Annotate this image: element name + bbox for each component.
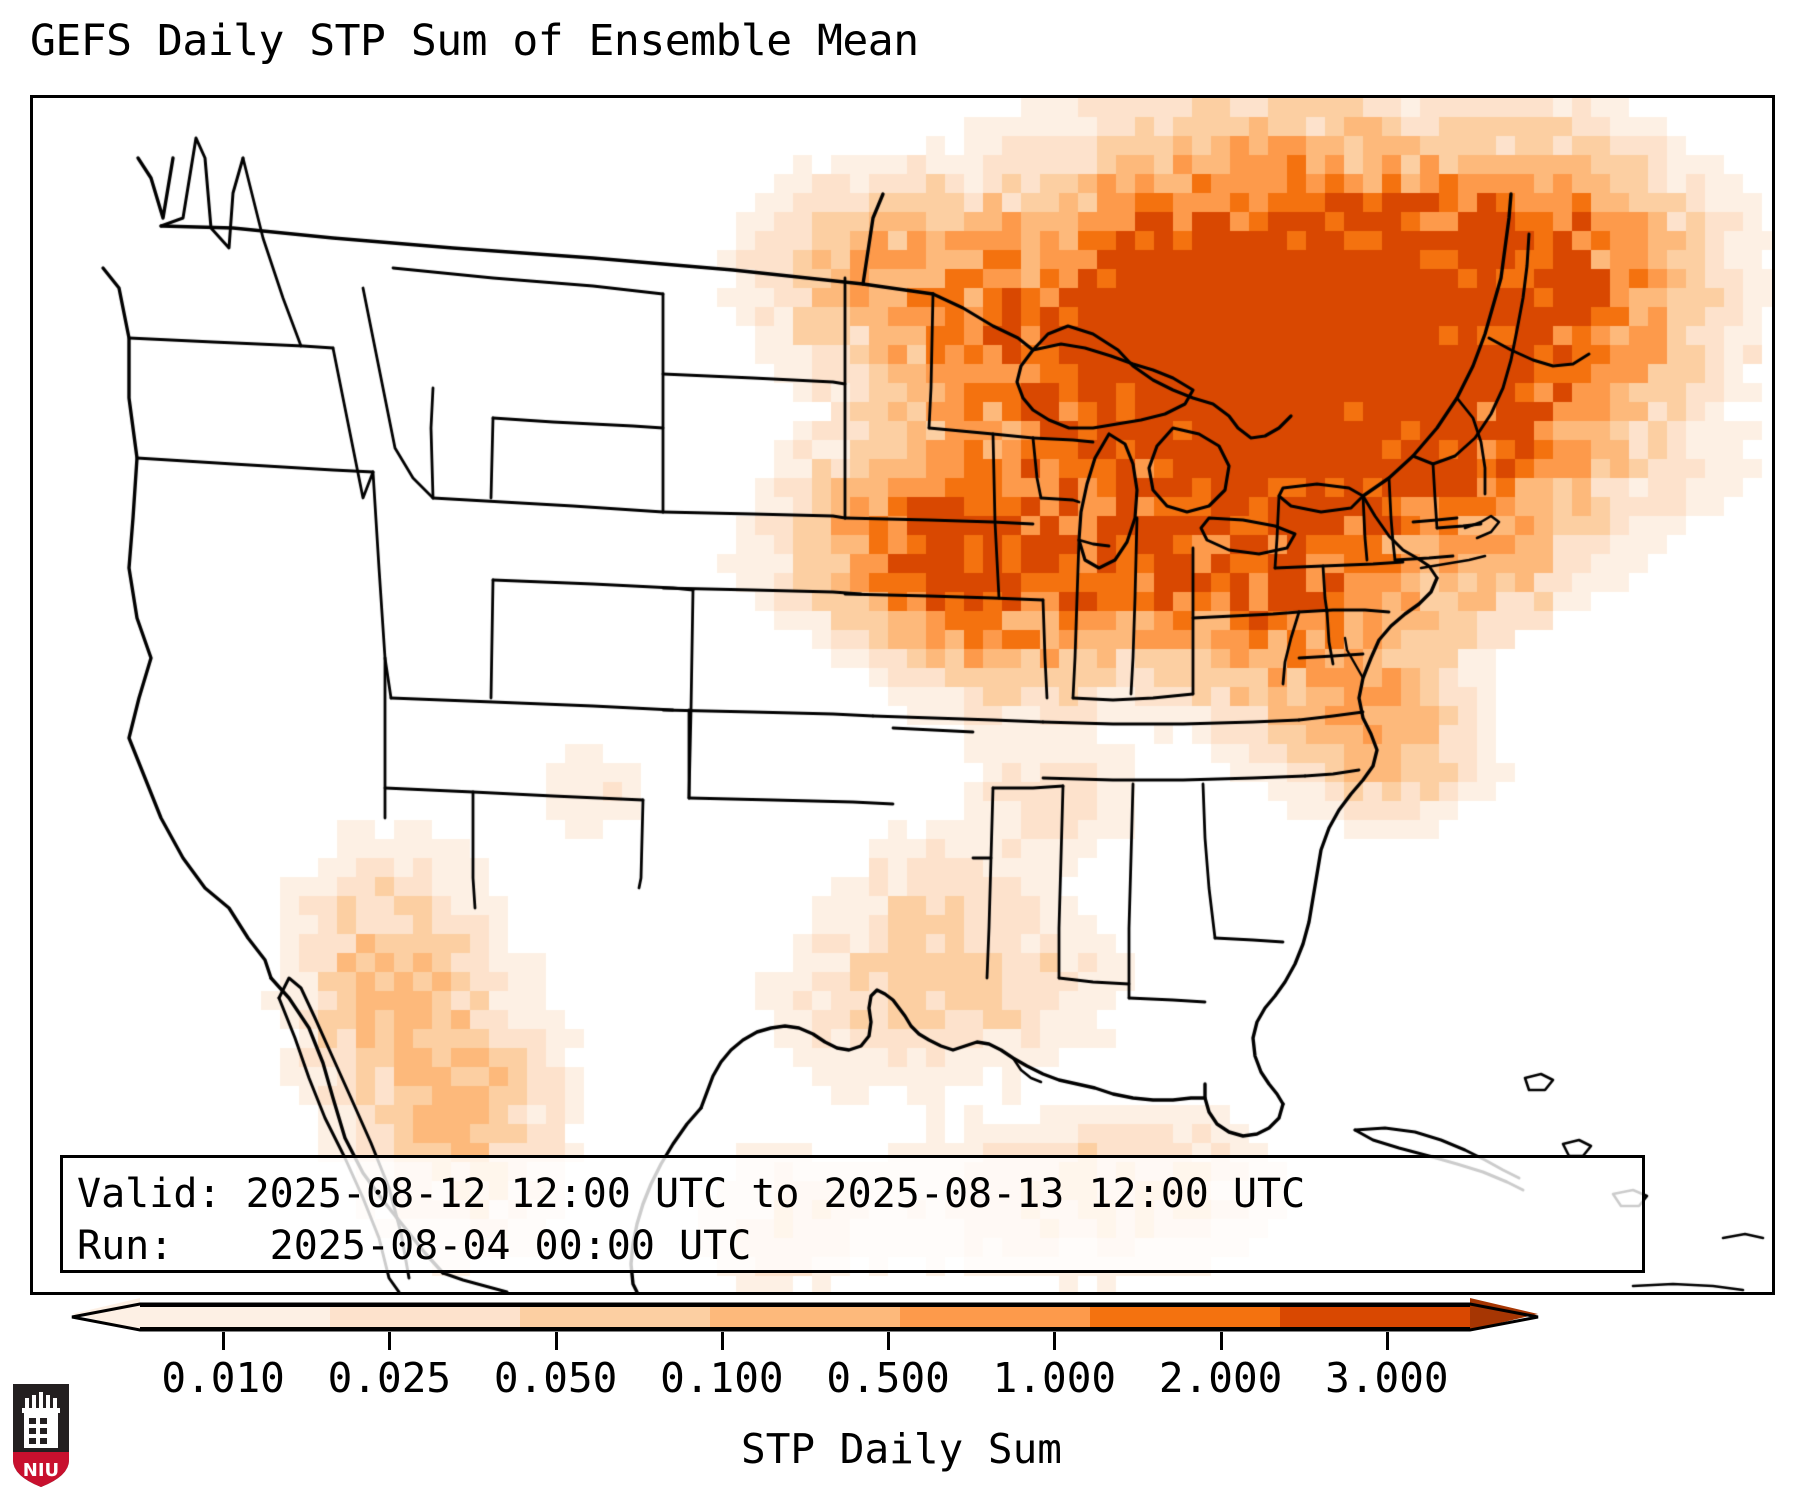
- colorbar-tick-label-1: 0.025: [328, 1354, 451, 1402]
- colorbar-band-2: [520, 1307, 710, 1327]
- colorbar-tick-6: [1220, 1332, 1223, 1350]
- page-title: GEFS Daily STP Sum of Ensemble Mean: [30, 16, 919, 66]
- niu-logo-text: NIU: [23, 1460, 59, 1481]
- run-time-text: Run: 2025-08-04 00:00 UTC: [77, 1220, 1628, 1272]
- colorbar-tick-4: [887, 1332, 890, 1350]
- colorbar-tick-5: [1053, 1332, 1056, 1350]
- stp-heatmap-layer: [33, 98, 1772, 1292]
- colorbar-tick-label-6: 2.000: [1159, 1354, 1282, 1402]
- colorbar-under-arrow: [72, 1298, 140, 1330]
- colorbar-tick-2: [555, 1332, 558, 1350]
- colorbar-tick-0: [222, 1332, 225, 1350]
- colorbar-tick-label-2: 0.050: [494, 1354, 617, 1402]
- colorbar-band-6: [1280, 1307, 1470, 1327]
- colorbar-bands: [140, 1304, 1470, 1330]
- forecast-info-box: Valid: 2025-08-12 12:00 UTC to 2025-08-1…: [60, 1155, 1645, 1273]
- valid-time-text: Valid: 2025-08-12 12:00 UTC to 2025-08-1…: [77, 1168, 1628, 1220]
- colorbar-tick-label-5: 1.000: [993, 1354, 1116, 1402]
- colorbar-tick-label-4: 0.500: [826, 1354, 949, 1402]
- colorbar-over-arrow: [1470, 1298, 1538, 1330]
- colorbar-band-1: [330, 1307, 520, 1327]
- colorbar-band-4: [900, 1307, 1090, 1327]
- colorbar-tick-label-3: 0.100: [660, 1354, 783, 1402]
- colorbar-tick-3: [721, 1332, 724, 1350]
- colorbar-band-0: [140, 1307, 330, 1327]
- niu-logo: NIU: [10, 1378, 72, 1490]
- map-panel: [30, 95, 1775, 1295]
- colorbar-axis-label: STP Daily Sum: [0, 1425, 1803, 1473]
- colorbar-tick-1: [388, 1332, 391, 1350]
- colorbar-tick-label-0: 0.010: [161, 1354, 284, 1402]
- colorbar: 0.0100.0250.0500.1000.5001.0002.0003.000: [0, 1298, 1803, 1338]
- colorbar-band-5: [1090, 1307, 1280, 1327]
- colorbar-tick-label-7: 3.000: [1325, 1354, 1448, 1402]
- colorbar-tick-7: [1386, 1332, 1389, 1350]
- colorbar-band-3: [710, 1307, 900, 1327]
